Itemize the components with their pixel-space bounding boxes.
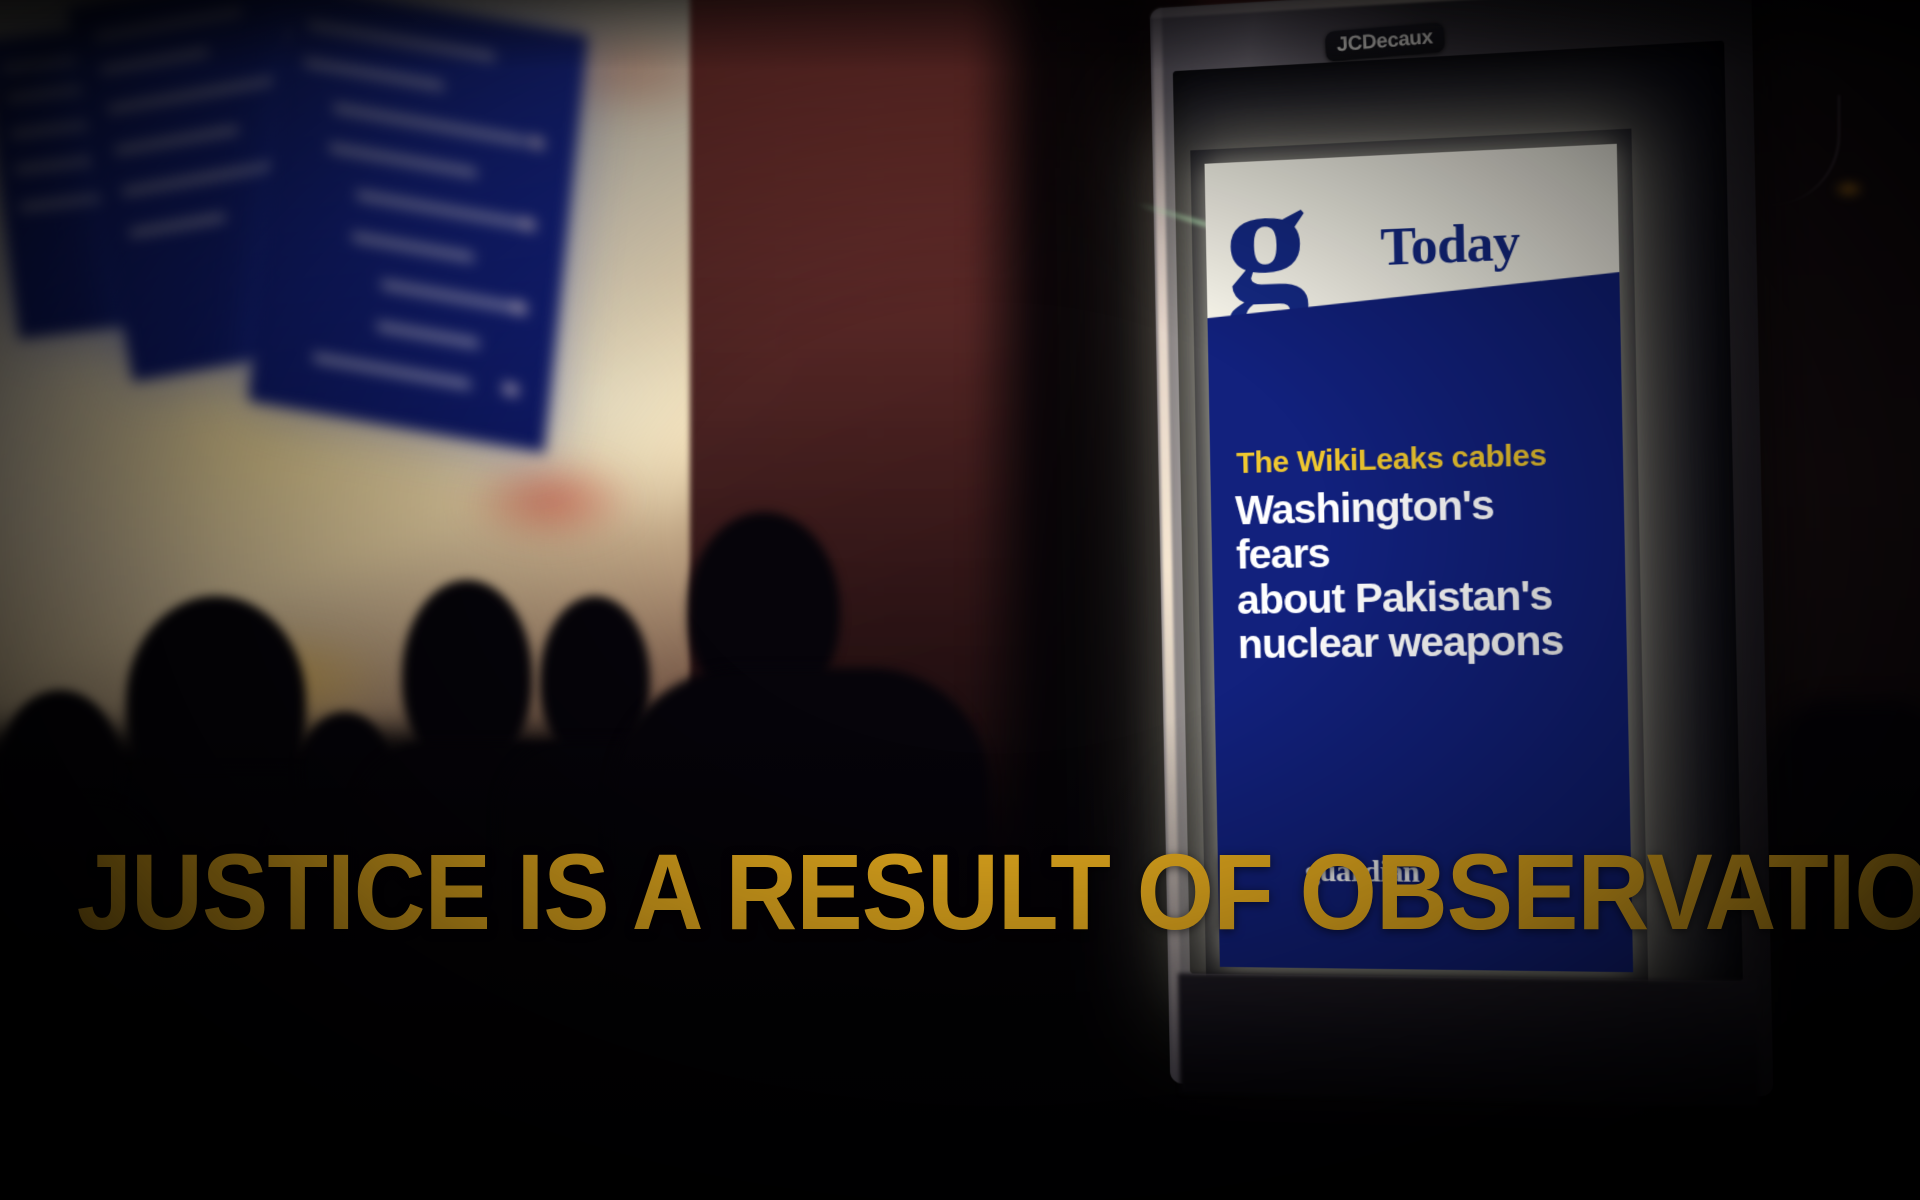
billboard-base <box>1178 973 1759 1106</box>
guardian-g-logo: g <box>1222 155 1310 328</box>
poster-headline: Washington's fears about Pakistan's nucl… <box>1235 480 1600 667</box>
masthead-today-label: Today <box>1380 212 1520 278</box>
info-screen-right <box>248 0 588 453</box>
headline-line-2: about Pakistan's <box>1236 571 1598 622</box>
headline-line-3: nuclear weapons <box>1237 617 1599 666</box>
amber-lamp-glow <box>1820 168 1878 210</box>
headline-line-1: Washington's fears <box>1235 480 1598 578</box>
scene-stage: JCDecaux g Today The WikiLeaks cables Wa… <box>0 0 1920 1200</box>
background-red-sign-glow <box>430 430 690 580</box>
caption-text: JUSTICE IS A RESULT OF OBSERVATION. <box>77 838 1843 946</box>
